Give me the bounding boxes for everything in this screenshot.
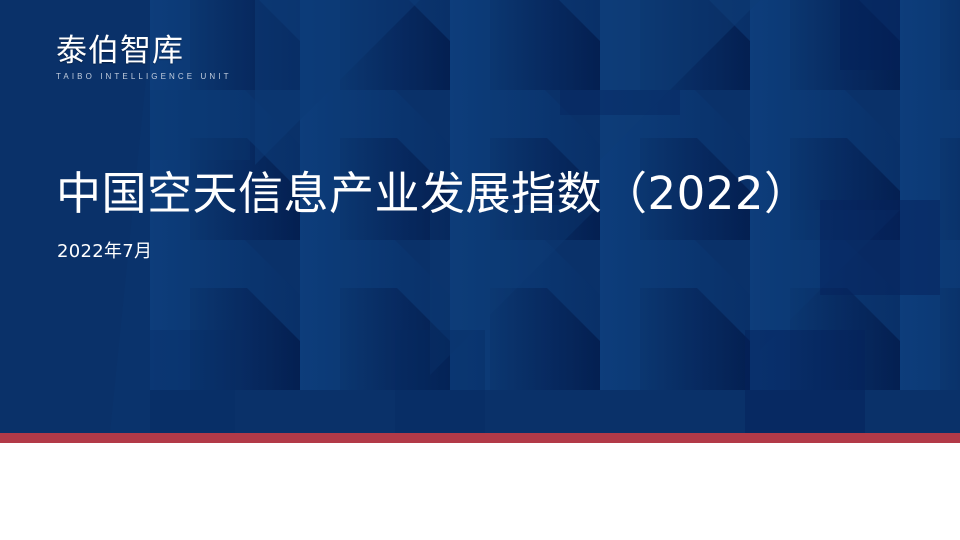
title-slide: 泰伯智库 TAIBO INTELLIGENCE UNIT 中国空天信息产业发展指… [0,0,960,540]
accent-rule [0,433,960,443]
brand-logo: 泰伯智库 TAIBO INTELLIGENCE UNIT [56,34,316,82]
page-title: 中国空天信息产业发展指数（2022） [56,167,810,221]
brand-logo-cn: 泰伯智库 [56,34,316,68]
hero-banner: 泰伯智库 TAIBO INTELLIGENCE UNIT 中国空天信息产业发展指… [0,0,960,433]
brand-logo-en: TAIBO INTELLIGENCE UNIT [56,72,316,82]
footer: www.taibo.cn 版权声明：本报告版权归泰伯智库所有，未经授权许可，不得… [0,443,960,540]
page-subtitle-date: 2022年7月 [57,239,152,265]
